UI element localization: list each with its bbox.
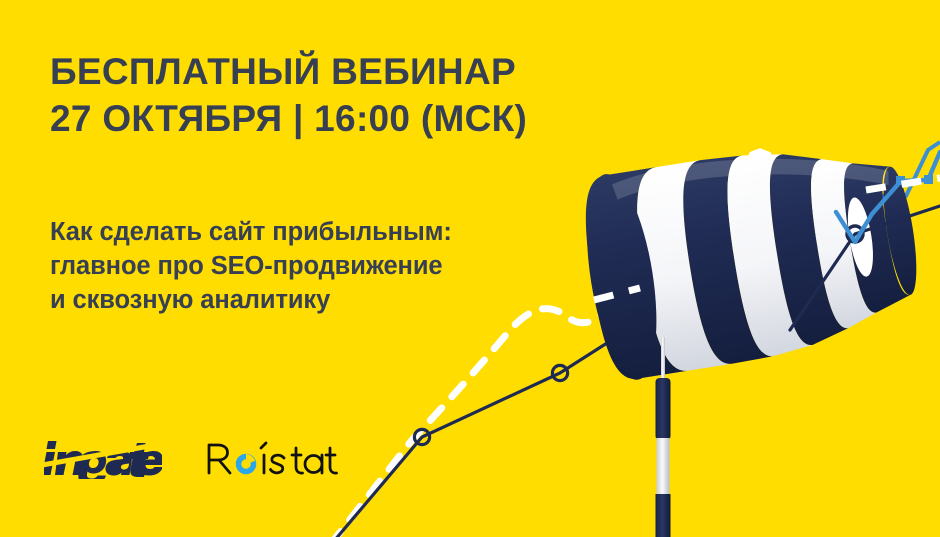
roistat-accent-icon [261, 443, 266, 448]
pole-seg-silver-1 [657, 438, 670, 496]
headline-line-2: 27 ОКТЯБРЯ | 16:00 (МСК) [50, 95, 650, 142]
roistat-letter-r [209, 445, 230, 473]
subtitle-line-3: и сквозную аналитику [50, 284, 595, 318]
ingate-logo[interactable] [44, 437, 162, 479]
roistat-letter-s [271, 455, 285, 473]
page-title: БЕСПЛАТНЫЙ ВЕБИНАР 27 ОКТЯБРЯ | 16:00 (М… [50, 48, 650, 143]
headline-line-1: БЕСПЛАТНЫЙ ВЕБИНАР [50, 51, 516, 92]
subtitle-line-2: главное про SEO-продвижение [50, 250, 595, 284]
pole-thin-top [661, 337, 665, 381]
webinar-promo-banner: БЕСПЛАТНЫЙ ВЕБИНАР 27 ОКТЯБРЯ | 16:00 (М… [0, 0, 940, 537]
partner-logos [44, 437, 339, 479]
webinar-subtitle: Как сделать сайт прибыльным: главное про… [50, 216, 595, 318]
pole-seg-navy-1 [656, 378, 671, 440]
pole-seg-navy-2 [656, 494, 671, 537]
roistat-letter-a [305, 455, 322, 473]
roistat-letter-t2 [326, 448, 337, 473]
roistat-logo[interactable] [204, 438, 339, 478]
roistat-letter-t1 [292, 448, 303, 473]
subtitle-line-1: Как сделать сайт прибыльным: [50, 216, 595, 250]
ingate-letter-i [44, 441, 57, 475]
navy-line-series-left [318, 336, 652, 537]
